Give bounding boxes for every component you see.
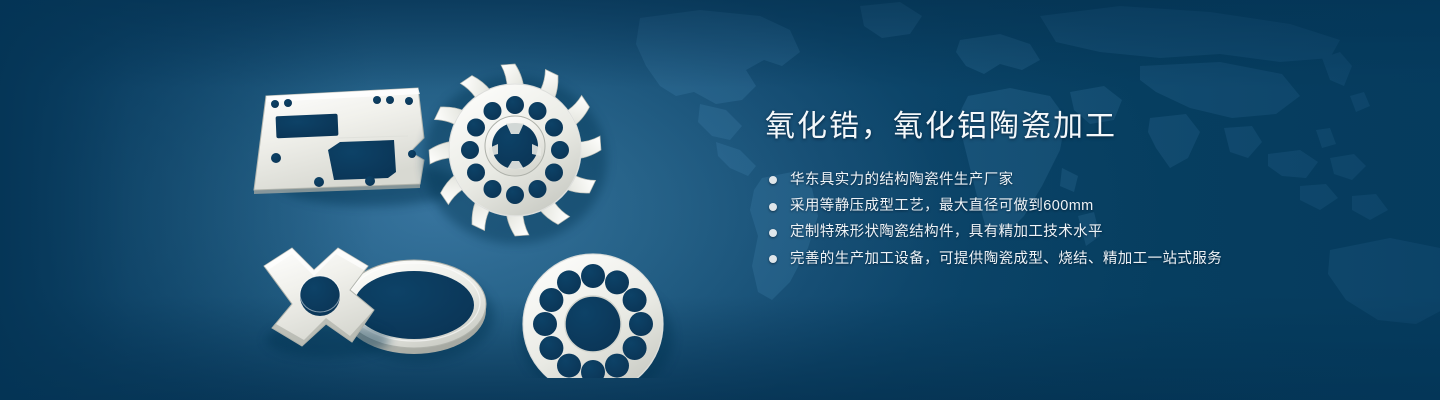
list-item: 定制特殊形状陶瓷结构件，具有精加工技术水平 [769, 224, 1365, 241]
ceramic-impeller-disc [423, 64, 607, 244]
banner-copy: 氧化锆，氧化铝陶瓷加工 华东具实力的结构陶瓷件生产厂家 采用等静压成型工艺，最大… [765, 108, 1365, 277]
feature-text: 华东具实力的结构陶瓷件生产厂家 [790, 172, 1014, 189]
list-item: 完善的生产加工设备，可提供陶瓷成型、烧结、精加工一站式服务 [769, 251, 1365, 268]
feature-list: 华东具实力的结构陶瓷件生产厂家 采用等静压成型工艺，最大直径可做到600mm 定… [769, 172, 1365, 269]
bullet-dot-icon [769, 203, 777, 211]
feature-text: 采用等静压成型工艺，最大直径可做到600mm [790, 198, 1094, 215]
bullet-dot-icon [769, 229, 777, 237]
bullet-dot-icon [769, 255, 777, 263]
ceramic-products-image [218, 42, 718, 378]
bullet-dot-icon [769, 176, 777, 184]
list-item: 采用等静压成型工艺，最大直径可做到600mm [769, 198, 1365, 215]
page-title: 氧化锆，氧化铝陶瓷加工 [765, 108, 1365, 146]
ceramic-perforated-disc [521, 254, 673, 378]
list-item: 华东具实力的结构陶瓷件生产厂家 [769, 172, 1365, 189]
feature-text: 定制特殊形状陶瓷结构件，具有精加工技术水平 [790, 224, 1103, 241]
hero-banner: 氧化锆，氧化铝陶瓷加工 华东具实力的结构陶瓷件生产厂家 采用等静压成型工艺，最大… [0, 0, 1440, 400]
feature-text: 完善的生产加工设备，可提供陶瓷成型、烧结、精加工一站式服务 [790, 251, 1222, 268]
